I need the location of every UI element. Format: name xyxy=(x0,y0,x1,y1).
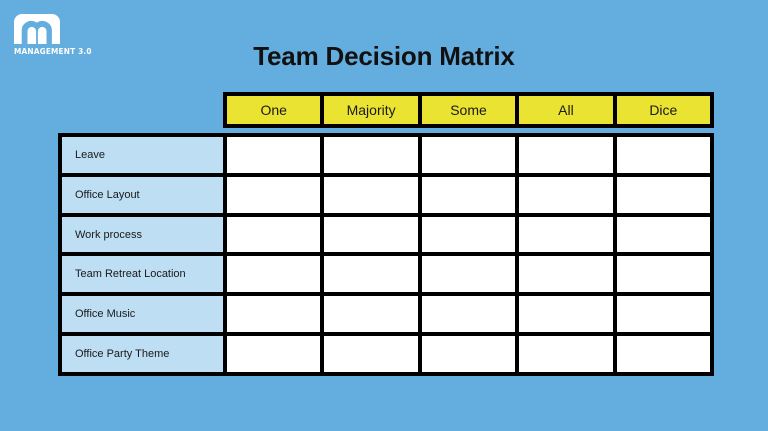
column-header-some[interactable]: Some xyxy=(422,96,519,124)
cell-office-layout-some[interactable] xyxy=(422,177,519,213)
matrix-body: Leave Office Layout Work process Team Re… xyxy=(58,133,714,376)
cell-office-music-majority[interactable] xyxy=(324,296,421,332)
row-label-office-layout[interactable]: Office Layout xyxy=(62,177,227,213)
column-header-all[interactable]: All xyxy=(519,96,616,124)
row-label-office-music[interactable]: Office Music xyxy=(62,296,227,332)
cell-leave-dice[interactable] xyxy=(617,137,710,173)
column-header-majority[interactable]: Majority xyxy=(324,96,421,124)
row-label-leave[interactable]: Leave xyxy=(62,137,227,173)
matrix-header-row: One Majority Some All Dice xyxy=(223,92,714,128)
table-row: Office Layout xyxy=(62,177,710,217)
row-label-office-party-theme[interactable]: Office Party Theme xyxy=(62,336,227,372)
cell-work-process-dice[interactable] xyxy=(617,217,710,253)
cell-work-process-some[interactable] xyxy=(422,217,519,253)
cell-office-layout-dice[interactable] xyxy=(617,177,710,213)
cell-work-process-one[interactable] xyxy=(227,217,324,253)
row-label-work-process[interactable]: Work process xyxy=(62,217,227,253)
cell-office-party-theme-one[interactable] xyxy=(227,336,324,372)
cell-office-music-dice[interactable] xyxy=(617,296,710,332)
cell-office-music-all[interactable] xyxy=(519,296,616,332)
table-row: Work process xyxy=(62,217,710,257)
cell-leave-all[interactable] xyxy=(519,137,616,173)
cell-office-party-theme-dice[interactable] xyxy=(617,336,710,372)
cell-office-layout-majority[interactable] xyxy=(324,177,421,213)
cell-office-layout-all[interactable] xyxy=(519,177,616,213)
column-header-one[interactable]: One xyxy=(227,96,324,124)
cell-work-process-all[interactable] xyxy=(519,217,616,253)
cell-office-party-theme-some[interactable] xyxy=(422,336,519,372)
cell-leave-one[interactable] xyxy=(227,137,324,173)
management-m-logo-icon xyxy=(14,14,60,44)
cell-office-layout-one[interactable] xyxy=(227,177,324,213)
cell-office-party-theme-majority[interactable] xyxy=(324,336,421,372)
cell-office-party-theme-all[interactable] xyxy=(519,336,616,372)
table-row: Office Party Theme xyxy=(62,336,710,372)
cell-team-retreat-location-one[interactable] xyxy=(227,256,324,292)
cell-team-retreat-location-dice[interactable] xyxy=(617,256,710,292)
cell-team-retreat-location-majority[interactable] xyxy=(324,256,421,292)
table-row: Team Retreat Location xyxy=(62,256,710,296)
row-label-team-retreat-location[interactable]: Team Retreat Location xyxy=(62,256,227,292)
table-row: Office Music xyxy=(62,296,710,336)
column-header-dice[interactable]: Dice xyxy=(617,96,710,124)
cell-office-music-one[interactable] xyxy=(227,296,324,332)
cell-office-music-some[interactable] xyxy=(422,296,519,332)
page-title: Team Decision Matrix xyxy=(0,41,768,72)
cell-team-retreat-location-all[interactable] xyxy=(519,256,616,292)
cell-leave-majority[interactable] xyxy=(324,137,421,173)
team-decision-matrix: One Majority Some All Dice Leave Office … xyxy=(58,92,714,376)
cell-leave-some[interactable] xyxy=(422,137,519,173)
table-row: Leave xyxy=(62,137,710,177)
cell-team-retreat-location-some[interactable] xyxy=(422,256,519,292)
cell-work-process-majority[interactable] xyxy=(324,217,421,253)
